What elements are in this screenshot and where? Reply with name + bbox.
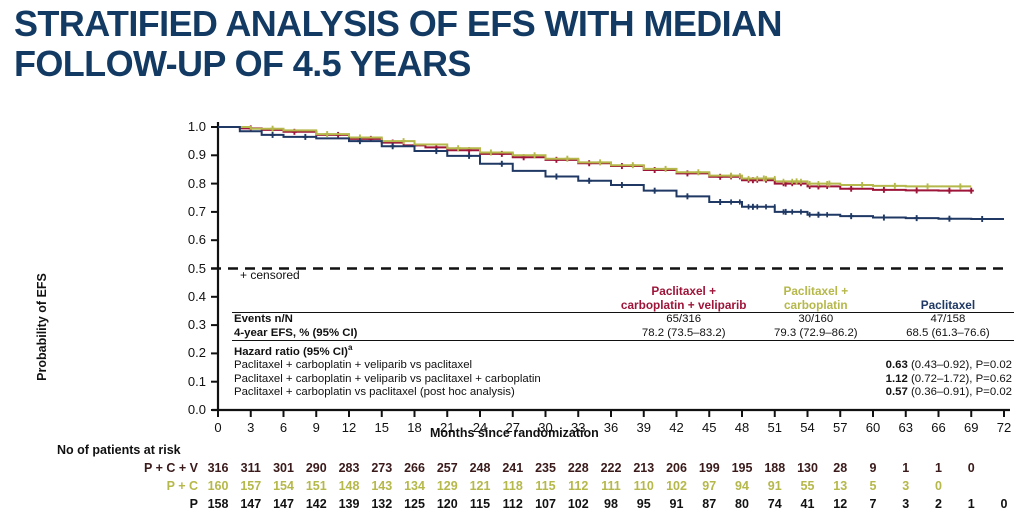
- risk-cell: 301: [271, 461, 297, 475]
- risk-cell: 87: [696, 497, 722, 511]
- risk-row-label: P + C: [78, 479, 198, 493]
- risk-cell: 134: [402, 479, 428, 493]
- risk-cell: 111: [598, 479, 624, 493]
- stats-row-label: 4-year EFS, % (95% CI): [232, 327, 618, 341]
- risk-cell: 213: [631, 461, 657, 475]
- risk-cell: 125: [402, 497, 428, 511]
- risk-cell: 147: [238, 497, 264, 511]
- risk-cell: 241: [500, 461, 526, 475]
- stats-arm-header-line: Paclitaxel: [884, 299, 1012, 313]
- risk-cell: 154: [271, 479, 297, 493]
- risk-row-label: P + C + V: [78, 461, 198, 475]
- risk-cell: 112: [565, 479, 591, 493]
- hazard-ratio: 1.12: [886, 373, 908, 385]
- stats-arm-header-p: Paclitaxel: [882, 285, 1014, 313]
- risk-row-PCV: P + C + V3163113012902832732662572482412…: [0, 461, 1020, 478]
- stats-header-row: Paclitaxel +carboplatin + veliparibPacli…: [232, 285, 1014, 313]
- stats-arm-header-line: carboplatin: [752, 299, 880, 313]
- risk-cell: 1: [893, 461, 919, 475]
- risk-cell: 94: [729, 479, 755, 493]
- risk-cell: 28: [827, 461, 853, 475]
- stats-cell: 65/316: [618, 313, 750, 327]
- stats-arm-header-line: Paclitaxel +: [620, 285, 748, 299]
- risk-cell: 121: [467, 479, 493, 493]
- risk-cell: 91: [762, 479, 788, 493]
- risk-cell: 188: [762, 461, 788, 475]
- series-0: [218, 125, 974, 193]
- stats-cell: 79.3 (72.9–86.2): [750, 327, 882, 341]
- risk-cell: 266: [402, 461, 428, 475]
- risk-cell: 257: [434, 461, 460, 475]
- stats-cell: 47/158: [882, 313, 1014, 327]
- stats-arm-header-line: carboplatin + veliparib: [620, 299, 748, 313]
- risk-cell: 139: [336, 497, 362, 511]
- risk-cell: 206: [664, 461, 690, 475]
- stats-cell: 78.2 (73.5–83.2): [618, 327, 750, 341]
- risk-cell: 148: [336, 479, 362, 493]
- risk-cell: 157: [238, 479, 264, 493]
- stats-cell: 30/160: [750, 313, 882, 327]
- risk-cell: 80: [729, 497, 755, 511]
- hazard-row-label: Paclitaxel + carboplatin vs paclitaxel (…: [232, 386, 618, 400]
- risk-cell: 115: [533, 479, 559, 493]
- risk-cell: 102: [664, 479, 690, 493]
- risk-cell: 3: [893, 479, 919, 493]
- risk-cell: 91: [664, 497, 690, 511]
- risk-table-heading: No of patients at risk: [57, 443, 181, 457]
- risk-cell: 273: [369, 461, 395, 475]
- risk-cell: 0: [926, 479, 952, 493]
- risk-cell: 3: [893, 497, 919, 511]
- risk-cell: 55: [795, 479, 821, 493]
- risk-cell: 158: [205, 497, 231, 511]
- hazard-row-value: 0.57 (0.36–0.91), P=0.02: [618, 386, 1014, 400]
- risk-cell: 74: [762, 497, 788, 511]
- risk-row-label: P: [78, 497, 198, 511]
- hazard-row: Paclitaxel + carboplatin + veliparib vs …: [232, 373, 1014, 387]
- stats-arm-header-pcv: Paclitaxel +carboplatin + veliparib: [618, 285, 750, 313]
- risk-cell: 142: [303, 497, 329, 511]
- risk-cell: 41: [795, 497, 821, 511]
- hazard-row-label: Paclitaxel + carboplatin + veliparib vs …: [232, 373, 618, 387]
- hazard-heading-footnote-marker: a: [348, 343, 352, 352]
- hazard-ratio: 0.63: [886, 359, 908, 371]
- risk-cell: 5: [860, 479, 886, 493]
- risk-cell: 97: [696, 479, 722, 493]
- risk-cell: 222: [598, 461, 624, 475]
- risk-cell: 7: [860, 497, 886, 511]
- risk-cell: 0: [958, 461, 984, 475]
- risk-cell: 283: [336, 461, 362, 475]
- risk-cell: 311: [238, 461, 264, 475]
- risk-cell: 160: [205, 479, 231, 493]
- risk-cell: 0: [991, 497, 1017, 511]
- hazard-row-value: 0.63 (0.43–0.92), P=0.02: [618, 359, 1014, 373]
- risk-cell: 95: [631, 497, 657, 511]
- risk-cell: 143: [369, 479, 395, 493]
- risk-cell: 98: [598, 497, 624, 511]
- censored-legend: + censored: [232, 267, 1014, 285]
- hazard-row: Paclitaxel + carboplatin + veliparib vs …: [232, 359, 1014, 373]
- risk-cell: 130: [795, 461, 821, 475]
- risk-cell: 199: [696, 461, 722, 475]
- risk-cell: 290: [303, 461, 329, 475]
- series-2: [218, 127, 1004, 222]
- risk-cell: 102: [565, 497, 591, 511]
- risk-cell: 9: [860, 461, 886, 475]
- risk-row-PC: P + C16015715415114814313412912111811511…: [0, 479, 1020, 496]
- stats-row: 4-year EFS, % (95% CI)78.2 (73.5–83.2)79…: [232, 327, 1014, 341]
- risk-cell: 13: [827, 479, 853, 493]
- risk-cell: 248: [467, 461, 493, 475]
- stats-grid: Paclitaxel +carboplatin + veliparibPacli…: [232, 285, 1014, 400]
- hazard-heading-row: Hazard ratio (95% CI)a: [232, 341, 1014, 360]
- hazard-ratio: 0.57: [886, 386, 908, 398]
- stats-arm-header-line: Paclitaxel +: [752, 285, 880, 299]
- risk-cell: 195: [729, 461, 755, 475]
- risk-cell: 110: [631, 479, 657, 493]
- risk-row-P: P158147147142139132125120115112107102989…: [0, 497, 1020, 514]
- risk-cell: 1: [958, 497, 984, 511]
- stats-arm-header-pc: Paclitaxel +carboplatin: [750, 285, 882, 313]
- statistics-table: + censored Paclitaxel +carboplatin + vel…: [232, 267, 1014, 400]
- risk-cell: 129: [434, 479, 460, 493]
- stats-row-label: Events n/N: [232, 313, 618, 327]
- hazard-row-value: 1.12 (0.72–1.72), P=0.62: [618, 373, 1014, 387]
- risk-cell: 228: [565, 461, 591, 475]
- risk-cell: 132: [369, 497, 395, 511]
- page-title: STRATIFIED ANALYSIS OF EFS WITH MEDIAN F…: [14, 4, 1004, 84]
- risk-cell: 316: [205, 461, 231, 475]
- risk-cell: 1: [926, 461, 952, 475]
- stats-cell: 68.5 (61.3–76.6): [882, 327, 1014, 341]
- stats-header-spacer: [232, 285, 618, 313]
- stats-row: Events n/N65/31630/16047/158: [232, 313, 1014, 327]
- risk-cell: 112: [500, 497, 526, 511]
- risk-cell: 120: [434, 497, 460, 511]
- hazard-row-label: Paclitaxel + carboplatin + veliparib vs …: [232, 359, 618, 373]
- risk-cell: 147: [271, 497, 297, 511]
- risk-cell: 2: [926, 497, 952, 511]
- hazard-row: Paclitaxel + carboplatin vs paclitaxel (…: [232, 386, 1014, 400]
- risk-cell: 12: [827, 497, 853, 511]
- hazard-heading: Hazard ratio (95% CI)a: [232, 341, 1014, 360]
- risk-cell: 107: [533, 497, 559, 511]
- risk-cell: 118: [500, 479, 526, 493]
- risk-cell: 235: [533, 461, 559, 475]
- risk-cell: 151: [303, 479, 329, 493]
- risk-cell: 115: [467, 497, 493, 511]
